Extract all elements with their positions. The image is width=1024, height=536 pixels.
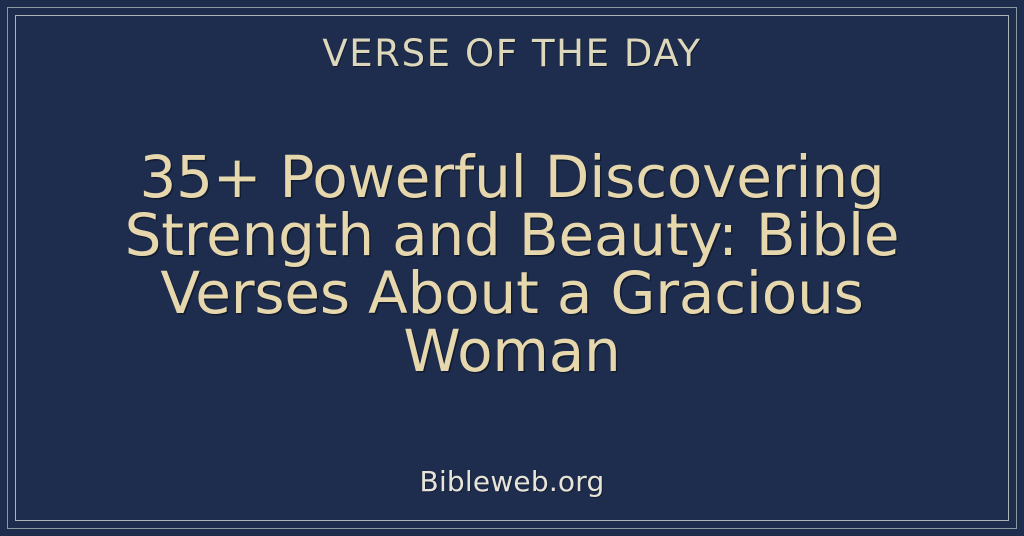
page-title: 35+ Powerful Discovering Strength and Be… bbox=[112, 148, 912, 380]
eyebrow-label: VERSE OF THE DAY bbox=[322, 34, 701, 75]
card-content: VERSE OF THE DAY 35+ Powerful Discoverin… bbox=[16, 16, 1008, 520]
verse-of-the-day-card: VERSE OF THE DAY 35+ Powerful Discoverin… bbox=[0, 0, 1024, 536]
title-container: 35+ Powerful Discovering Strength and Be… bbox=[16, 75, 1008, 465]
site-attribution: Bibleweb.org bbox=[420, 465, 605, 498]
